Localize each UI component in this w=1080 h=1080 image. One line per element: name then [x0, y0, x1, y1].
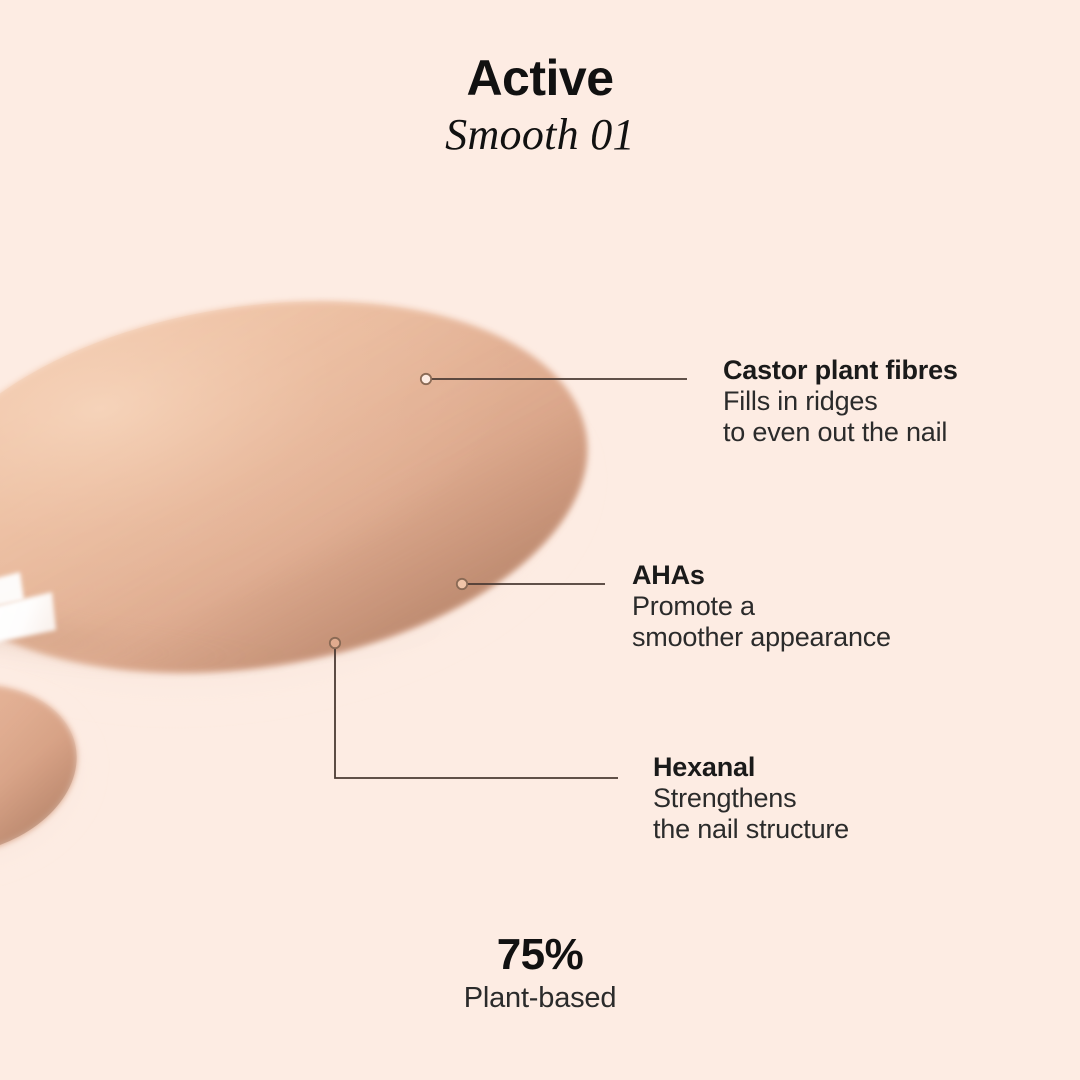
annotation-title: Hexanal — [653, 752, 849, 783]
annotation-hexanal: Hexanal Strengthens the nail structure — [653, 752, 849, 844]
annotation-title: AHAs — [632, 560, 891, 591]
annotation-line: Strengthens — [653, 783, 849, 814]
leader-marker-castor — [421, 374, 431, 384]
main-drop — [0, 256, 614, 718]
product-ingredient-infographic: Active Smooth 01 Castor plant fibres Fil… — [0, 0, 1080, 1080]
annotation-line: Promote a — [632, 591, 891, 622]
annotation-line: Fills in ridges — [723, 386, 958, 417]
annotation-line: smoother appearance — [632, 622, 891, 653]
polish-drop-artwork — [0, 0, 1080, 1080]
annotation-ahas: AHAs Promote a smoother appearance — [632, 560, 891, 652]
annotation-line: to even out the nail — [723, 417, 958, 448]
annotation-title: Castor plant fibres — [723, 355, 958, 386]
leader-marker-ahas — [457, 579, 467, 589]
leader-marker-hexanal — [330, 638, 340, 648]
annotation-line: the nail structure — [653, 814, 849, 845]
annotation-castor-plant-fibres: Castor plant fibres Fills in ridges to e… — [723, 355, 958, 447]
